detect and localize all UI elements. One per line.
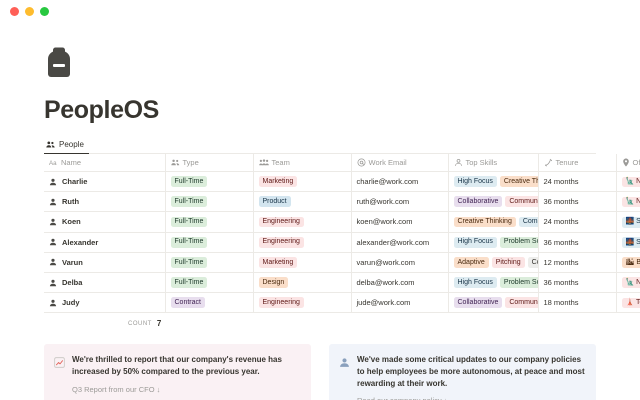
column-header-team-label: Team <box>272 158 290 167</box>
table-row[interactable]: DelbaFull-TimeDesigndelba@work.comHigh F… <box>44 272 640 292</box>
office-emoji-icon: 🗽 <box>626 279 635 286</box>
email-label: charlie@work.com <box>357 177 419 186</box>
view-tabs: People <box>44 137 596 154</box>
team-tag[interactable]: Engineering <box>259 237 304 248</box>
table-row[interactable]: CharlieFull-TimeMarketingcharlie@work.co… <box>44 172 640 192</box>
person-avatar-icon <box>49 258 57 266</box>
column-header-name[interactable]: Aa Name <box>44 154 165 172</box>
cell-team[interactable]: Design <box>253 272 351 292</box>
cell-skills[interactable]: High FocusCreative Thinking <box>448 172 538 192</box>
person-name-label: Koen <box>62 217 81 226</box>
column-header-skills[interactable]: Top Skills <box>448 154 538 172</box>
tenure-label: 36 months <box>544 238 579 247</box>
app-window: PeopleOS People <box>0 0 640 400</box>
table-row[interactable]: JudyContractEngineeringjude@work.comColl… <box>44 293 640 313</box>
person-name-label: Ruth <box>62 197 79 206</box>
cell-office[interactable]: 🌉 San Francisco <box>616 212 640 232</box>
cell-type[interactable]: Full-Time <box>165 232 253 252</box>
column-header-tenure-label: Tenure <box>556 158 579 167</box>
skill-tag[interactable]: Communication <box>519 217 538 228</box>
cell-office[interactable]: 🗽 New York <box>616 192 640 212</box>
table-row[interactable]: KoenFull-TimeEngineeringkoen@work.comCre… <box>44 212 640 232</box>
cell-name[interactable]: Koen <box>44 212 165 232</box>
people-icon <box>46 140 55 149</box>
person-name-label: Alexander <box>62 238 98 247</box>
window-zoom-button[interactable] <box>40 7 49 16</box>
person-name-label: Judy <box>62 298 80 307</box>
person-name-label: Delba <box>62 278 82 287</box>
table-row[interactable]: AlexanderFull-TimeEngineeringalexander@w… <box>44 232 640 252</box>
team-tag[interactable]: Marketing <box>259 257 298 268</box>
cell-name[interactable]: Alexander <box>44 232 165 252</box>
column-header-tenure[interactable]: Tenure <box>538 154 616 172</box>
email-label: varun@work.com <box>357 258 415 267</box>
office-emoji-icon: 🏙 <box>626 259 635 266</box>
skill-tag[interactable]: Pitching <box>492 257 525 268</box>
formula-icon <box>544 158 553 167</box>
tenure-label: 24 months <box>544 177 579 186</box>
team-tag[interactable]: Product <box>259 196 291 207</box>
office-emoji-icon: 🗼 <box>626 299 635 306</box>
chart-increasing-icon <box>54 354 65 400</box>
count-value: 7 <box>157 319 161 328</box>
cell-team[interactable]: Marketing <box>253 252 351 272</box>
column-header-team[interactable]: Team <box>253 154 351 172</box>
multi-select-icon <box>171 158 180 167</box>
office-tag[interactable]: 🗽 New York <box>622 177 640 188</box>
cell-email[interactable]: jude@work.com <box>351 293 448 313</box>
type-tag[interactable]: Full-Time <box>171 257 208 268</box>
cell-skills[interactable]: CollaborativeCommunication <box>448 293 538 313</box>
person-avatar-icon <box>49 299 57 307</box>
table-body: CharlieFull-TimeMarketingcharlie@work.co… <box>44 172 640 313</box>
skill-tag[interactable]: Creative Thinking <box>500 176 538 187</box>
window-close-button[interactable] <box>10 7 19 16</box>
tenure-label: 24 months <box>544 217 579 226</box>
office-emoji-icon: 🌉 <box>626 218 635 225</box>
backpack-icon[interactable] <box>44 46 596 80</box>
type-tag[interactable]: Contract <box>171 297 205 308</box>
cell-tenure[interactable]: 24 months <box>538 212 616 232</box>
table-row[interactable]: RuthFull-TimeProductruth@work.comCollabo… <box>44 192 640 212</box>
cell-tenure[interactable]: 36 months <box>538 192 616 212</box>
cell-type[interactable]: Full-Time <box>165 212 253 232</box>
skill-tag[interactable]: Adaptive <box>454 257 489 268</box>
team-tag[interactable]: Engineering <box>259 297 304 308</box>
window-minimize-button[interactable] <box>25 7 34 16</box>
callout-cards: We're thrilled to report that our compan… <box>44 344 596 400</box>
person-avatar-icon <box>49 198 57 206</box>
person-avatar-icon <box>49 238 57 246</box>
table-row[interactable]: VarunFull-TimeMarketingvarun@work.comAda… <box>44 252 640 272</box>
tenure-label: 18 months <box>544 298 579 307</box>
map-pin-icon <box>622 158 630 167</box>
skill-tag[interactable]: Communication <box>505 196 538 207</box>
column-header-office[interactable]: Office <box>616 154 640 172</box>
revenue-callout-card: We're thrilled to report that our compan… <box>44 344 311 400</box>
office-tag[interactable]: 🗼 Tokyo <box>622 298 640 309</box>
cell-team[interactable]: Marketing <box>253 172 351 192</box>
tenure-label: 36 months <box>544 197 579 206</box>
cell-skills[interactable]: Creative ThinkingCommunication <box>448 212 538 232</box>
office-tag[interactable]: 🗽 New York <box>622 197 640 208</box>
cell-name[interactable]: Ruth <box>44 192 165 212</box>
count-label: COUNT <box>128 321 152 327</box>
email-label: alexander@work.com <box>357 238 430 247</box>
tab-people[interactable]: People <box>44 137 89 154</box>
revenue-callout-headline: We're thrilled to report that our compan… <box>72 354 300 377</box>
type-tag[interactable]: Full-Time <box>171 277 208 288</box>
cell-type[interactable]: Full-Time <box>165 272 253 292</box>
tenure-label: 12 months <box>544 258 579 267</box>
skill-tag[interactable]: Creative Thinking <box>454 217 516 228</box>
cell-office[interactable]: 🌉 San Francisco <box>616 232 640 252</box>
cell-team[interactable]: Engineering <box>253 293 351 313</box>
multi-select-icon <box>259 158 269 167</box>
email-label: jude@work.com <box>357 298 411 307</box>
cell-office[interactable]: 🗼 Tokyo <box>616 293 640 313</box>
skill-tag[interactable]: Problem Solving <box>500 237 538 248</box>
column-header-type-label: Type <box>183 158 199 167</box>
page-title: PeopleOS <box>44 96 596 125</box>
person-select-icon <box>454 158 463 167</box>
skill-tag[interactable]: High Focus <box>454 176 497 187</box>
cell-tenure[interactable]: 18 months <box>538 293 616 313</box>
table-header-row: Aa Name Type Team <box>44 154 640 172</box>
office-emoji-icon: 🗽 <box>626 198 635 205</box>
page-icon-wrap <box>44 22 596 80</box>
office-tag[interactable]: 🌉 San Francisco <box>622 217 640 228</box>
table-count-footer: COUNT 7 <box>44 313 596 328</box>
column-header-email-label: Work Email <box>369 158 407 167</box>
policy-callout-headline: We've made some critical updates to our … <box>357 354 585 389</box>
tab-people-label: People <box>59 140 84 149</box>
cell-tenure[interactable]: 24 months <box>538 172 616 192</box>
cell-email[interactable]: varun@work.com <box>351 252 448 272</box>
tenure-label: 36 months <box>544 278 579 287</box>
email-label: ruth@work.com <box>357 197 410 206</box>
cell-tenure[interactable]: 36 months <box>538 232 616 252</box>
column-header-email[interactable]: Work Email <box>351 154 448 172</box>
cell-type[interactable]: Full-Time <box>165 172 253 192</box>
type-tag[interactable]: Full-Time <box>171 196 208 207</box>
skill-tag[interactable]: Control <box>528 257 538 268</box>
cell-office[interactable]: 🗽 New York <box>616 172 640 192</box>
cell-type[interactable]: Full-Time <box>165 252 253 272</box>
email-label: koen@work.com <box>357 217 413 226</box>
revenue-callout-subtext: Q3 Report from our CFO ↓ <box>72 385 300 394</box>
cell-skills[interactable]: AdaptivePitchingControl <box>448 252 538 272</box>
page-content: PeopleOS People <box>0 22 640 400</box>
cell-type[interactable]: Contract <box>165 293 253 313</box>
cell-email[interactable]: alexander@work.com <box>351 232 448 252</box>
svg-text:Aa: Aa <box>49 160 57 167</box>
person-avatar-icon <box>49 279 57 287</box>
office-emoji-icon: 🗽 <box>626 178 635 185</box>
skill-tag[interactable]: Collaborative <box>454 196 503 207</box>
column-header-name-label: Name <box>61 158 81 167</box>
cell-tenure[interactable]: 36 months <box>538 272 616 292</box>
cell-team[interactable]: Product <box>253 192 351 212</box>
cell-office[interactable]: 🏙 Boston <box>616 252 640 272</box>
cell-email[interactable]: charlie@work.com <box>351 172 448 192</box>
office-emoji-icon: 🌉 <box>626 239 635 246</box>
column-header-office-label: Office <box>633 158 640 167</box>
cell-email[interactable]: koen@work.com <box>351 212 448 232</box>
cell-email[interactable]: delba@work.com <box>351 272 448 292</box>
person-name-label: Varun <box>62 258 83 267</box>
skill-tag[interactable]: High Focus <box>454 277 497 288</box>
cell-office[interactable]: 🗽 New York <box>616 272 640 292</box>
cell-name[interactable]: Delba <box>44 272 165 292</box>
cell-team[interactable]: Engineering <box>253 232 351 252</box>
team-tag[interactable]: Engineering <box>259 217 304 228</box>
policy-callout-subtext: Read our company policy ↓ <box>357 396 585 400</box>
cell-tenure[interactable]: 12 months <box>538 252 616 272</box>
at-email-icon <box>357 158 366 167</box>
text-aa-icon: Aa <box>49 158 58 167</box>
skill-tag[interactable]: High Focus <box>454 237 497 248</box>
policy-callout-card: We've made some critical updates to our … <box>329 344 596 400</box>
cell-skills[interactable]: High FocusProblem Solving <box>448 232 538 252</box>
cell-name[interactable]: Charlie <box>44 172 165 192</box>
cell-name[interactable]: Judy <box>44 293 165 313</box>
window-titlebar <box>0 0 640 22</box>
skill-tag[interactable]: Communication <box>505 297 538 308</box>
type-tag[interactable]: Full-Time <box>171 237 208 248</box>
skill-tag[interactable]: Problem Solving <box>500 277 538 288</box>
team-tag[interactable]: Design <box>259 277 289 288</box>
cell-skills[interactable]: High FocusProblem Solving <box>448 272 538 292</box>
column-header-type[interactable]: Type <box>165 154 253 172</box>
person-name-label: Charlie <box>62 177 87 186</box>
team-tag[interactable]: Marketing <box>259 176 298 187</box>
cell-type[interactable]: Full-Time <box>165 192 253 212</box>
skill-tag[interactable]: Collaborative <box>454 297 503 308</box>
people-table: Aa Name Type Team <box>44 154 640 313</box>
office-tag[interactable]: 🗽 New York <box>622 277 640 288</box>
cell-skills[interactable]: CollaborativeCommunication <box>448 192 538 212</box>
person-avatar-icon <box>49 178 57 186</box>
cell-email[interactable]: ruth@work.com <box>351 192 448 212</box>
type-tag[interactable]: Full-Time <box>171 176 208 187</box>
office-tag[interactable]: 🌉 San Francisco <box>622 237 640 248</box>
email-label: delba@work.com <box>357 278 415 287</box>
column-header-skills-label: Top Skills <box>466 158 498 167</box>
person-avatar-icon <box>49 218 57 226</box>
type-tag[interactable]: Full-Time <box>171 217 208 228</box>
people-group-icon <box>339 354 350 400</box>
cell-team[interactable]: Engineering <box>253 212 351 232</box>
cell-name[interactable]: Varun <box>44 252 165 272</box>
office-tag[interactable]: 🏙 Boston <box>622 257 640 268</box>
